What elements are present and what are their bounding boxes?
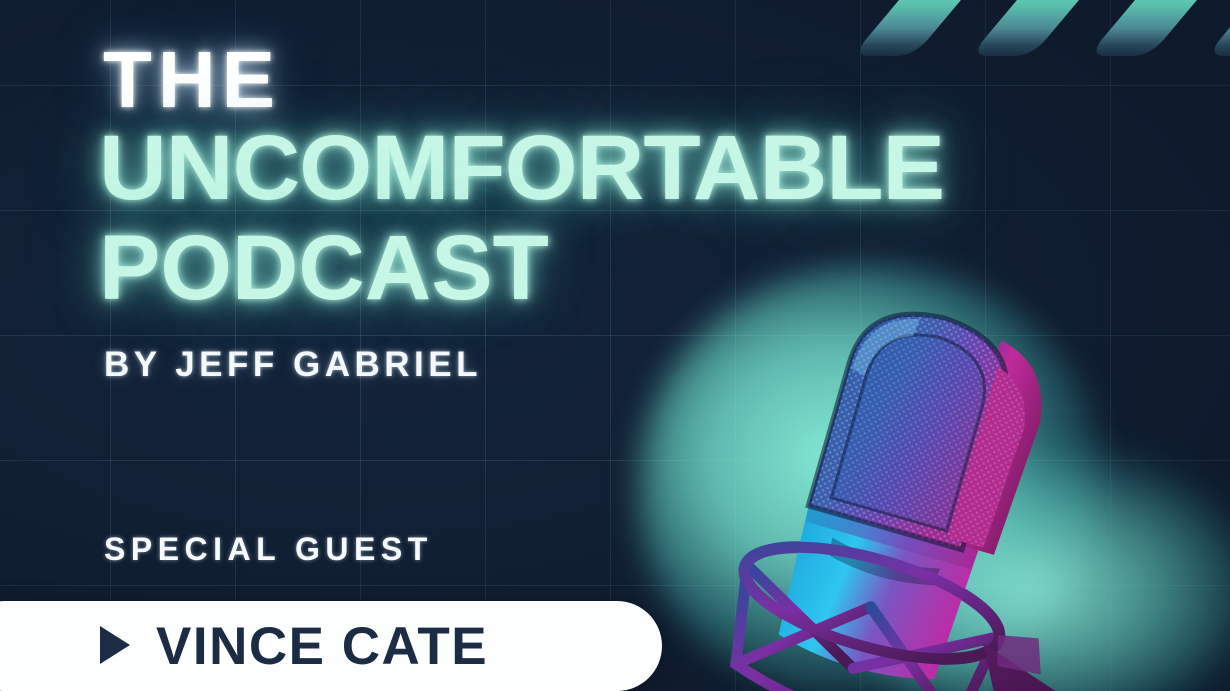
stripe-2 — [970, 0, 1084, 56]
title-line-podcast: PODCAST — [99, 222, 549, 314]
title-line-uncomfortable: UNCOMFORTABLE — [99, 122, 944, 214]
special-guest-label: SPECIAL GUEST — [104, 533, 433, 565]
guest-banner-content: VINCE CATE — [0, 601, 662, 691]
podcast-cover-poster: THE UNCOMFORTABLE PODCAST BY JEFF GABRIE… — [0, 0, 1230, 691]
byline-text: BY JEFF GABRIEL — [104, 347, 482, 382]
stripe-4 — [1206, 0, 1230, 56]
microphone-illustration — [600, 255, 1230, 691]
guest-name-banner: VINCE CATE — [0, 601, 662, 691]
stripe-1 — [852, 0, 966, 56]
guest-name-text: VINCE CATE — [156, 620, 488, 673]
stripe-3 — [1088, 0, 1202, 56]
title-line-the: THE — [103, 40, 281, 120]
condenser-microphone-icon — [600, 255, 1230, 691]
diagonal-stripes-decoration — [860, 0, 1230, 56]
play-triangle-icon — [100, 626, 130, 664]
